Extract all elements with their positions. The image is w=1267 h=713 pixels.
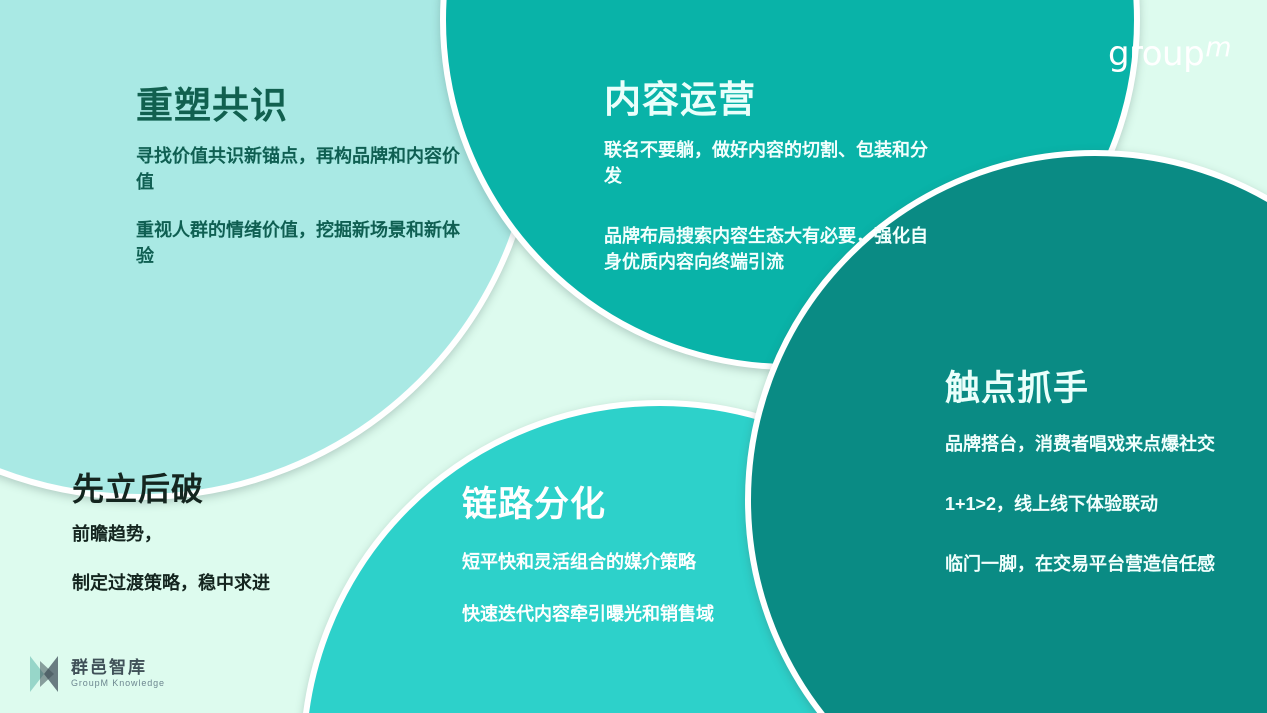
body-first-establish-2: 制定过渡策略，稳中求进 bbox=[72, 570, 372, 597]
knowledge-logo-cn: 群邑智库 bbox=[71, 659, 165, 677]
text-block-reshape: 重塑共识 寻找价值共识新锚点，再构品牌和内容价值 重视人群的情绪价值，挖掘新场景… bbox=[136, 86, 466, 269]
groupm-logo: group m bbox=[1108, 34, 1231, 74]
heading-first-establish: 先立后破 bbox=[72, 472, 372, 507]
body-touchpoint-3: 临门一脚，在交易平台营造信任感 bbox=[945, 551, 1245, 577]
text-block-touchpoint: 触点抓手 品牌搭台，消费者唱戏来点爆社交 1+1>2，线上线下体验联动 临门一脚… bbox=[945, 370, 1245, 611]
heading-content: 内容运营 bbox=[604, 80, 944, 121]
heading-touchpoint: 触点抓手 bbox=[945, 370, 1245, 409]
slide-canvas: 重塑共识 寻找价值共识新锚点，再构品牌和内容价值 重视人群的情绪价值，挖掘新场景… bbox=[0, 0, 1267, 713]
body-touchpoint-1: 品牌搭台，消费者唱戏来点爆社交 bbox=[945, 431, 1245, 457]
body-first-establish-1: 前瞻趋势， bbox=[72, 521, 372, 548]
knowledge-logo-en: GroupM Knowledge bbox=[71, 679, 165, 688]
body-touchpoint-2: 1+1>2，线上线下体验联动 bbox=[945, 491, 1245, 517]
text-block-first-establish: 先立后破 前瞻趋势， 制定过渡策略，稳中求进 bbox=[72, 472, 372, 597]
text-block-content: 内容运营 联名不要躺，做好内容的切割、包装和分发 品牌布局搜索内容生态大有必要，… bbox=[604, 80, 944, 309]
text-block-chain: 链路分化 短平快和灵活组合的媒介策略 快速迭代内容牵引曝光和销售域 bbox=[462, 486, 802, 653]
groupm-knowledge-logo: 群邑智库 GroupM Knowledge bbox=[28, 653, 165, 695]
body-reshape-1: 寻找价值共识新锚点，再构品牌和内容价值 bbox=[136, 143, 466, 195]
k-mark-icon bbox=[28, 653, 62, 695]
groupm-logo-mark: m bbox=[1205, 32, 1231, 63]
body-reshape-2: 重视人群的情绪价值，挖掘新场景和新体验 bbox=[136, 217, 466, 269]
body-content-1: 联名不要躺，做好内容的切割、包装和分发 bbox=[604, 137, 944, 189]
groupm-logo-word: group bbox=[1108, 34, 1204, 74]
body-chain-1: 短平快和灵活组合的媒介策略 bbox=[462, 549, 802, 575]
body-content-2: 品牌布局搜索内容生态大有必要，强化自身优质内容向终端引流 bbox=[604, 223, 944, 275]
body-chain-2: 快速迭代内容牵引曝光和销售域 bbox=[462, 601, 802, 627]
heading-chain: 链路分化 bbox=[462, 486, 802, 525]
heading-reshape: 重塑共识 bbox=[136, 86, 466, 127]
knowledge-logo-text: 群邑智库 GroupM Knowledge bbox=[71, 659, 165, 688]
